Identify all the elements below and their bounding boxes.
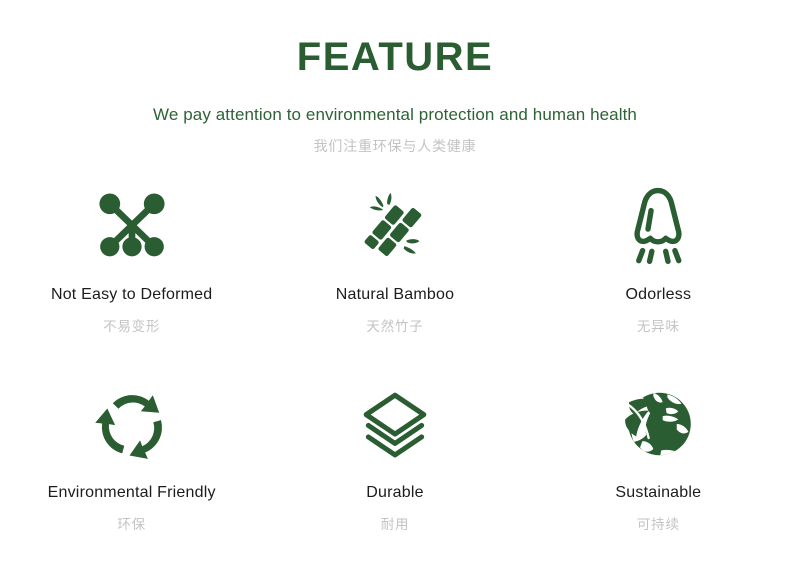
feature-label-en: Odorless <box>626 285 692 304</box>
feature-item: Durable 耐用 <box>263 376 526 572</box>
feature-item: Environmental Friendly 环保 <box>0 376 263 572</box>
feature-label-en: Durable <box>366 483 423 502</box>
page-title: FEATURE <box>0 36 790 78</box>
feature-item: Odorless 无异味 <box>527 180 790 376</box>
feature-item: Natural Bamboo 天然竹子 <box>263 180 526 376</box>
feature-label-cn: 无异味 <box>637 315 680 335</box>
molecule-nodes-icon <box>86 180 178 272</box>
feature-label-cn: 耐用 <box>381 513 410 533</box>
section-header: FEATURE We pay attention to environmenta… <box>0 0 790 156</box>
feature-label-cn: 可持续 <box>637 513 680 533</box>
subtitle-english: We pay attention to environmental protec… <box>0 105 790 125</box>
layers-stack-icon <box>349 378 441 470</box>
feature-label-en: Environmental Friendly <box>48 483 216 502</box>
feature-label-en: Sustainable <box>615 483 701 502</box>
bamboo-icon <box>349 180 441 272</box>
subtitle-chinese: 我们注重环保与人类健康 <box>0 136 790 156</box>
feature-label-en: Not Easy to Deformed <box>51 285 212 304</box>
recycle-arrows-icon <box>86 378 178 470</box>
feature-label-cn: 不易变形 <box>103 315 160 335</box>
nose-icon <box>612 180 704 272</box>
feature-label-cn: 环保 <box>117 513 146 533</box>
feature-label-cn: 天然竹子 <box>366 315 423 335</box>
feature-item: Not Easy to Deformed 不易变形 <box>0 180 263 376</box>
feature-section: FEATURE We pay attention to environmenta… <box>0 0 790 576</box>
feature-grid: Not Easy to Deformed 不易变形 <box>0 180 790 572</box>
feature-label-en: Natural Bamboo <box>336 285 454 304</box>
feature-item: Sustainable 可持续 <box>527 376 790 572</box>
globe-leaf-icon <box>612 378 704 470</box>
